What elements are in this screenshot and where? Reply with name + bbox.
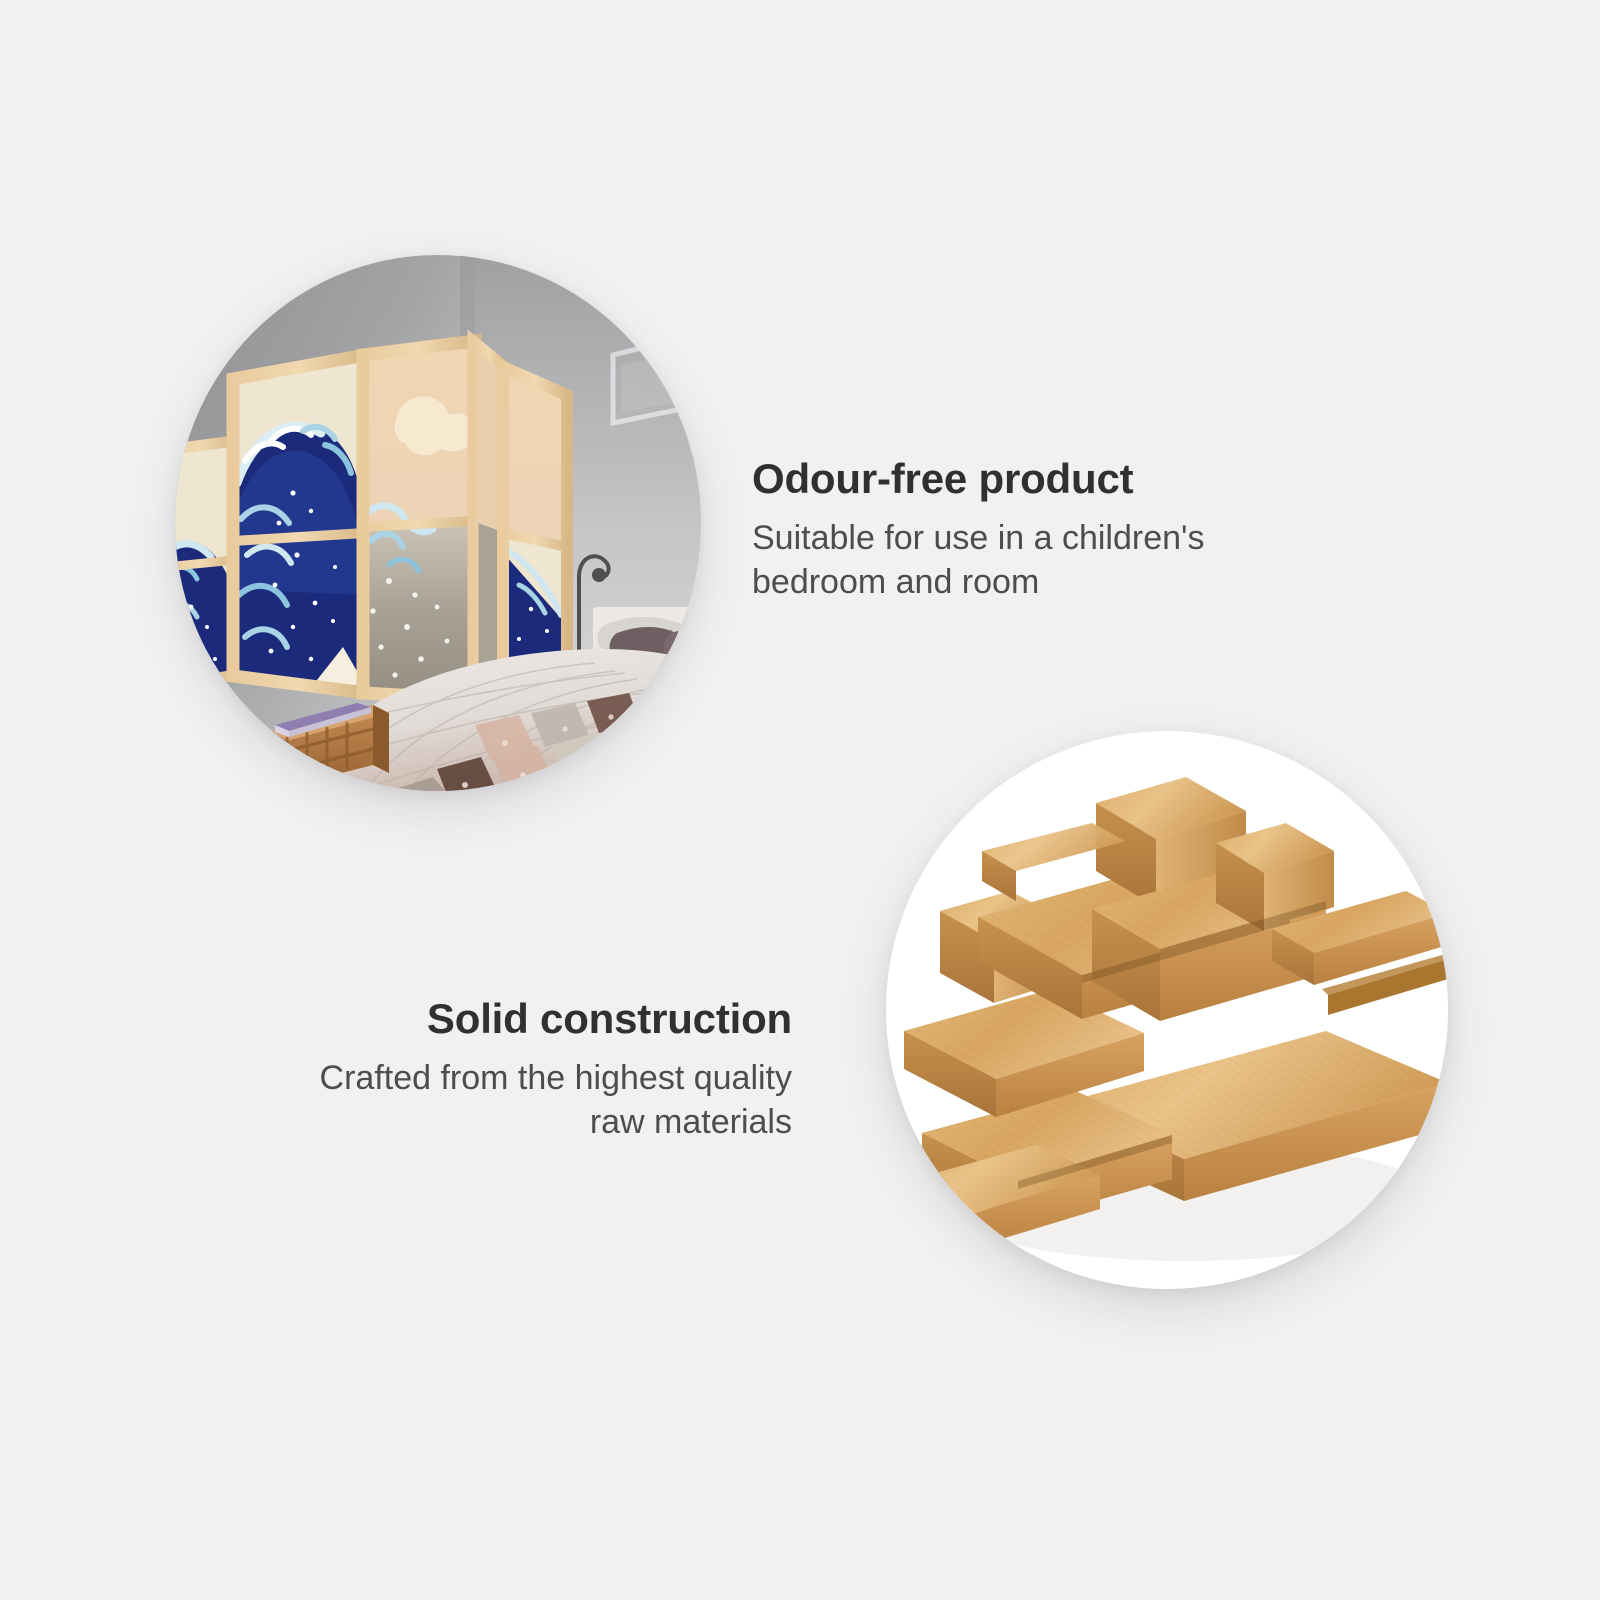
bedroom-image-medallion [175, 255, 701, 791]
timber-illustration [886, 731, 1448, 1289]
feature-description-odour-free: Suitable for use in a children's bedroom… [752, 516, 1205, 604]
bedroom-illustration [175, 255, 701, 791]
feature-title-odour-free: Odour-free product [752, 455, 1205, 502]
feature-text-odour-free: Odour-free product Suitable for use in a… [752, 455, 1205, 604]
timber-image-medallion [886, 731, 1448, 1289]
feature-graphic-canvas: Odour-free product Suitable for use in a… [0, 0, 1600, 1600]
feature-title-solid-construction: Solid construction [320, 995, 792, 1042]
feature-text-solid-construction: Solid construction Crafted from the high… [320, 995, 792, 1144]
feature-description-solid-construction: Crafted from the highest quality raw mat… [320, 1056, 792, 1144]
